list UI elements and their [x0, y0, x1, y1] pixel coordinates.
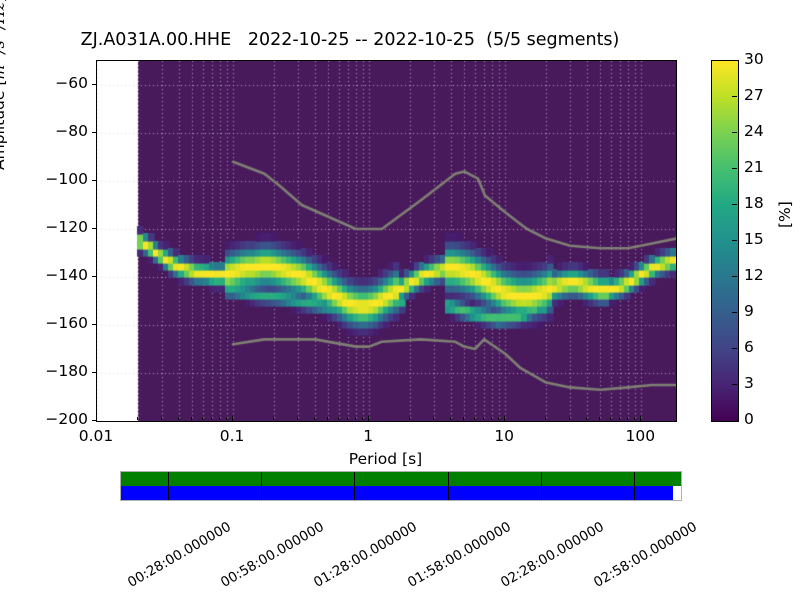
colorbar-tick-label: 30 — [744, 50, 764, 68]
colorbar-tick-label: 0 — [744, 410, 754, 428]
x-tick-mark-minor — [178, 417, 179, 420]
colorbar-tick-mark — [732, 312, 737, 313]
x-tick-mark-minor — [355, 417, 356, 420]
x-tick-mark-minor — [327, 417, 328, 420]
colorbar-tick-mark — [732, 240, 737, 241]
x-tick-mark — [368, 416, 369, 421]
x-tick-mark — [504, 416, 505, 421]
x-tick-mark-minor — [161, 417, 162, 420]
x-tick-mark-minor — [338, 417, 339, 420]
y-tick-mark — [92, 372, 97, 373]
y-tick-mark — [92, 228, 97, 229]
x-tick-mark-minor — [545, 417, 546, 420]
x-tick-mark-minor — [202, 417, 203, 420]
colorbar-label: [%] — [776, 201, 794, 228]
colorbar-tick-mark — [732, 168, 737, 169]
colorbar-tick-label: 12 — [744, 266, 764, 284]
y-tick-label: −200 — [28, 410, 88, 428]
y-tick-label: −80 — [28, 122, 88, 140]
page-title: ZJ.A031A.00.HHE 2022-10-25 -- 2022-10-25… — [0, 30, 700, 50]
y-tick-mark — [92, 276, 97, 277]
timeline-tick-mark — [354, 472, 355, 500]
timeline-tick-label: 00:58:00.000000 — [218, 519, 327, 591]
timeline-tick-mark — [448, 472, 449, 500]
x-tick-mark-minor — [463, 417, 464, 420]
colorbar-tick-label: 18 — [744, 194, 764, 212]
x-tick-mark-minor — [137, 417, 138, 420]
x-tick-mark-minor — [634, 417, 635, 420]
y-tick-label: −120 — [28, 218, 88, 236]
x-tick-label: 0.1 — [197, 427, 267, 445]
x-tick-mark-minor — [226, 417, 227, 420]
colorbar-tick-mark — [732, 384, 737, 385]
x-tick-mark-minor — [491, 417, 492, 420]
y-tick-label: −60 — [28, 74, 88, 92]
x-tick-label: 1 — [333, 427, 403, 445]
ppsd-heatmap-canvas[interactable] — [97, 61, 676, 421]
y-tick-mark — [92, 84, 97, 85]
colorbar-tick-label: 21 — [744, 158, 764, 176]
x-tick-mark-minor — [273, 417, 274, 420]
x-tick-mark — [232, 416, 233, 421]
x-tick-mark-minor — [586, 417, 587, 420]
colorbar-tick-mark — [732, 276, 737, 277]
x-tick-mark-minor — [409, 417, 410, 420]
colorbar-tick-mark — [732, 96, 737, 97]
colorbar-tick-label: 15 — [744, 230, 764, 248]
colorbar-tick-mark — [732, 204, 737, 205]
timeline-tick-mark — [541, 472, 542, 500]
timeline-tick-label: 01:58:00.000000 — [405, 519, 514, 591]
colorbar-tick-label: 27 — [744, 86, 764, 104]
x-tick-mark-minor — [569, 417, 570, 420]
timeline-tick-label: 02:58:00.000000 — [591, 519, 700, 591]
timeline-tick-mark — [634, 472, 635, 500]
timeline-tick-mark — [168, 472, 169, 500]
x-tick-label: 0.01 — [61, 427, 131, 445]
colorbar-tick-label: 3 — [744, 374, 754, 392]
x-tick-label: 100 — [605, 427, 675, 445]
x-tick-mark-minor — [610, 417, 611, 420]
x-tick-mark-minor — [498, 417, 499, 420]
x-tick-mark-minor — [627, 417, 628, 420]
x-tick-mark-minor — [297, 417, 298, 420]
y-tick-mark — [92, 180, 97, 181]
timeline-used-segments-bar[interactable] — [121, 486, 673, 500]
timeline-data-coverage-bar[interactable] — [121, 472, 681, 486]
x-tick-mark-minor — [314, 417, 315, 420]
x-axis-label: Period [s] — [96, 450, 675, 468]
timeline-tick-label: 01:28:00.000000 — [311, 519, 420, 591]
y-tick-mark — [92, 132, 97, 133]
timeline-tick-mark — [261, 472, 262, 500]
colorbar-tick-label: 6 — [744, 338, 754, 356]
x-tick-mark-minor — [433, 417, 434, 420]
x-tick-mark — [96, 416, 97, 421]
y-tick-label: −140 — [28, 266, 88, 284]
ppsd-figure: ZJ.A031A.00.HHE 2022-10-25 -- 2022-10-25… — [0, 0, 800, 600]
y-tick-label: −160 — [28, 314, 88, 332]
colorbar-tick-mark — [732, 132, 737, 133]
x-tick-label: 10 — [469, 427, 539, 445]
ppsd-plot-axes[interactable] — [96, 60, 677, 422]
x-tick-mark-minor — [191, 417, 192, 420]
y-tick-label: −100 — [28, 170, 88, 188]
y-tick-mark — [92, 324, 97, 325]
x-tick-mark-minor — [619, 417, 620, 420]
colorbar-tick-mark — [732, 348, 737, 349]
x-tick-mark-minor — [219, 417, 220, 420]
x-tick-mark — [640, 416, 641, 421]
x-tick-mark-minor — [211, 417, 212, 420]
colorbar-tick-label: 24 — [744, 122, 764, 140]
y-tick-label: −180 — [28, 362, 88, 380]
timeline-axes[interactable] — [120, 471, 682, 501]
timeline-tick-label: 00:28:00.000000 — [125, 519, 234, 591]
x-tick-mark-minor — [474, 417, 475, 420]
timeline-tick-label: 02:28:00.000000 — [498, 519, 607, 591]
x-tick-mark-minor — [362, 417, 363, 420]
y-axis-label: Amplitude [m2 /s4 /Hz] [dB] — [0, 0, 8, 170]
x-tick-mark-minor — [347, 417, 348, 420]
colorbar-tick-label: 9 — [744, 302, 754, 320]
x-tick-mark-minor — [599, 417, 600, 420]
x-tick-mark-minor — [450, 417, 451, 420]
x-tick-mark-minor — [483, 417, 484, 420]
